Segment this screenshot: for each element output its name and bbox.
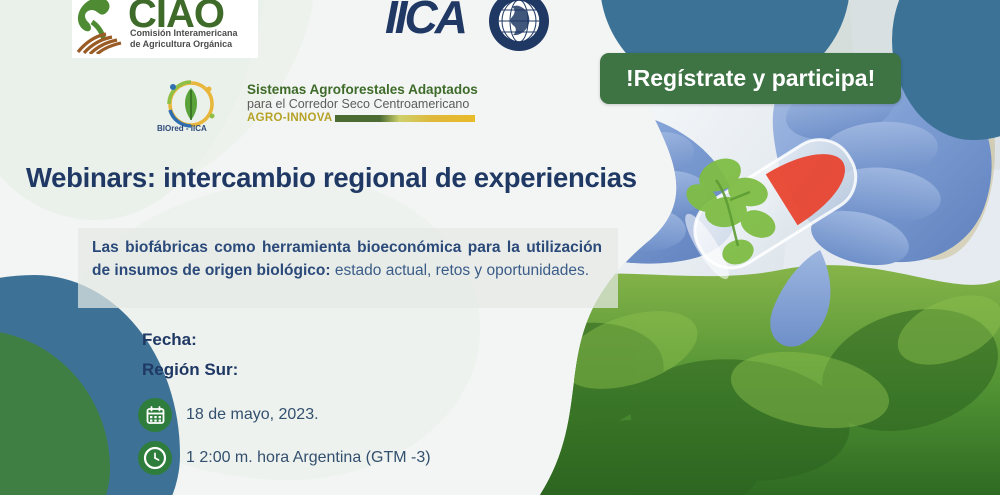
americas-map-with-furrows-icon [72, 0, 124, 54]
agro-line2: para el Corredor Seco Centroamericano [247, 97, 469, 111]
ciao-subtitle: Comisión Interamericana de Agricultura O… [130, 28, 238, 50]
ciao-logo: CIAO Comisión Interamericana de Agricult… [72, 0, 258, 58]
description-text: Las biofábricas como herramienta bioecon… [92, 236, 602, 282]
clock-icon [138, 441, 172, 475]
webinar-promo-banner: CIAO Comisión Interamericana de Agricult… [0, 0, 1000, 495]
iica-globe-emblem-icon [488, 0, 550, 52]
description-regular: estado actual, retos y oportunidades. [331, 262, 590, 279]
agro-line3: AGRO-INNOVA [247, 112, 333, 124]
fecha-label: Fecha: [142, 330, 197, 350]
iica-logo: IICA [385, 0, 565, 56]
calendar-icon [138, 398, 172, 432]
time-row: 1 2:00 m. hora Argentina (GTM -3) [138, 441, 431, 475]
region-label: Región Sur: [142, 360, 238, 380]
ciao-subtitle-line2: de Agricultura Orgánica [130, 39, 232, 49]
agro-innova-logo: BIOred - IICA Sistemas Agroforestales Ad… [155, 80, 465, 135]
date-row: 18 de mayo, 2023. [138, 398, 319, 432]
time-text: 1 2:00 m. hora Argentina (GTM -3) [186, 449, 431, 467]
biored-label: BIOred - IICA [157, 124, 207, 133]
agro-line1: Sistemas Agroforestales Adaptados [247, 82, 478, 97]
iica-wordmark: IICA [385, 0, 465, 44]
register-cta-button[interactable]: !Regístrate y participa! [600, 53, 901, 104]
page-title: Webinars: intercambio regional de experi… [26, 162, 637, 194]
ciao-subtitle-line1: Comisión Interamericana [130, 28, 238, 38]
agro-gradient-bar [335, 115, 475, 122]
date-text: 18 de mayo, 2023. [186, 406, 319, 424]
